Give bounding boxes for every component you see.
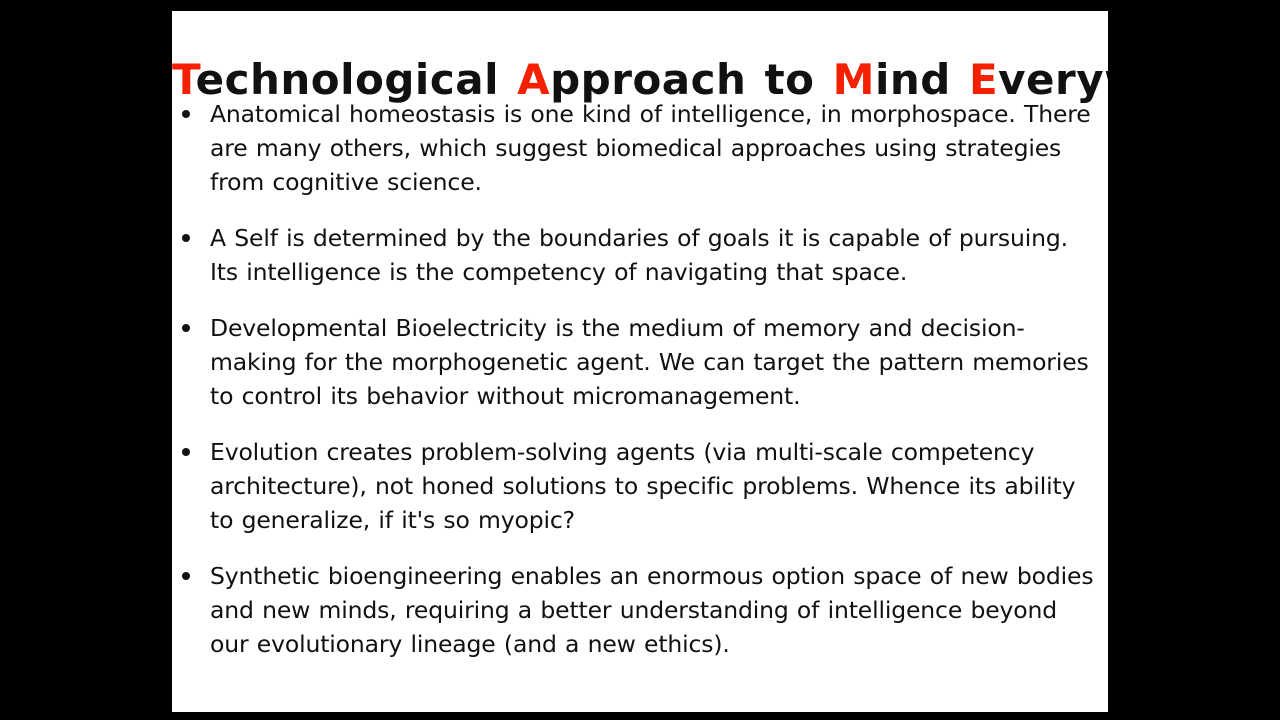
- bullet-item: A Self is determined by the boundaries o…: [180, 221, 1100, 289]
- bullet-dot-icon: [182, 572, 190, 580]
- bullet-text: Synthetic bioengineering enables an enor…: [210, 559, 1100, 661]
- bullet-text: Evolution creates problem-solving agents…: [210, 435, 1100, 537]
- bullet-dot-icon: [182, 448, 190, 456]
- bullet-text: Anatomical homeostasis is one kind of in…: [210, 97, 1100, 199]
- bullet-item: Synthetic bioengineering enables an enor…: [180, 559, 1100, 661]
- bullet-item: Anatomical homeostasis is one kind of in…: [180, 97, 1100, 199]
- bullet-text: Developmental Bioelectricity is the medi…: [210, 311, 1100, 413]
- slide-stage: Technological Approach to Mind Everywher…: [0, 0, 1280, 720]
- bullet-dot-icon: [182, 324, 190, 332]
- bullet-text: A Self is determined by the boundaries o…: [210, 221, 1100, 289]
- slide-panel: Technological Approach to Mind Everywher…: [172, 11, 1108, 712]
- bullet-dot-icon: [182, 234, 190, 242]
- bullet-dot-icon: [182, 110, 190, 118]
- bullet-item: Developmental Bioelectricity is the medi…: [180, 311, 1100, 413]
- bullet-item: Evolution creates problem-solving agents…: [180, 435, 1100, 537]
- bullet-list: Anatomical homeostasis is one kind of in…: [180, 97, 1100, 683]
